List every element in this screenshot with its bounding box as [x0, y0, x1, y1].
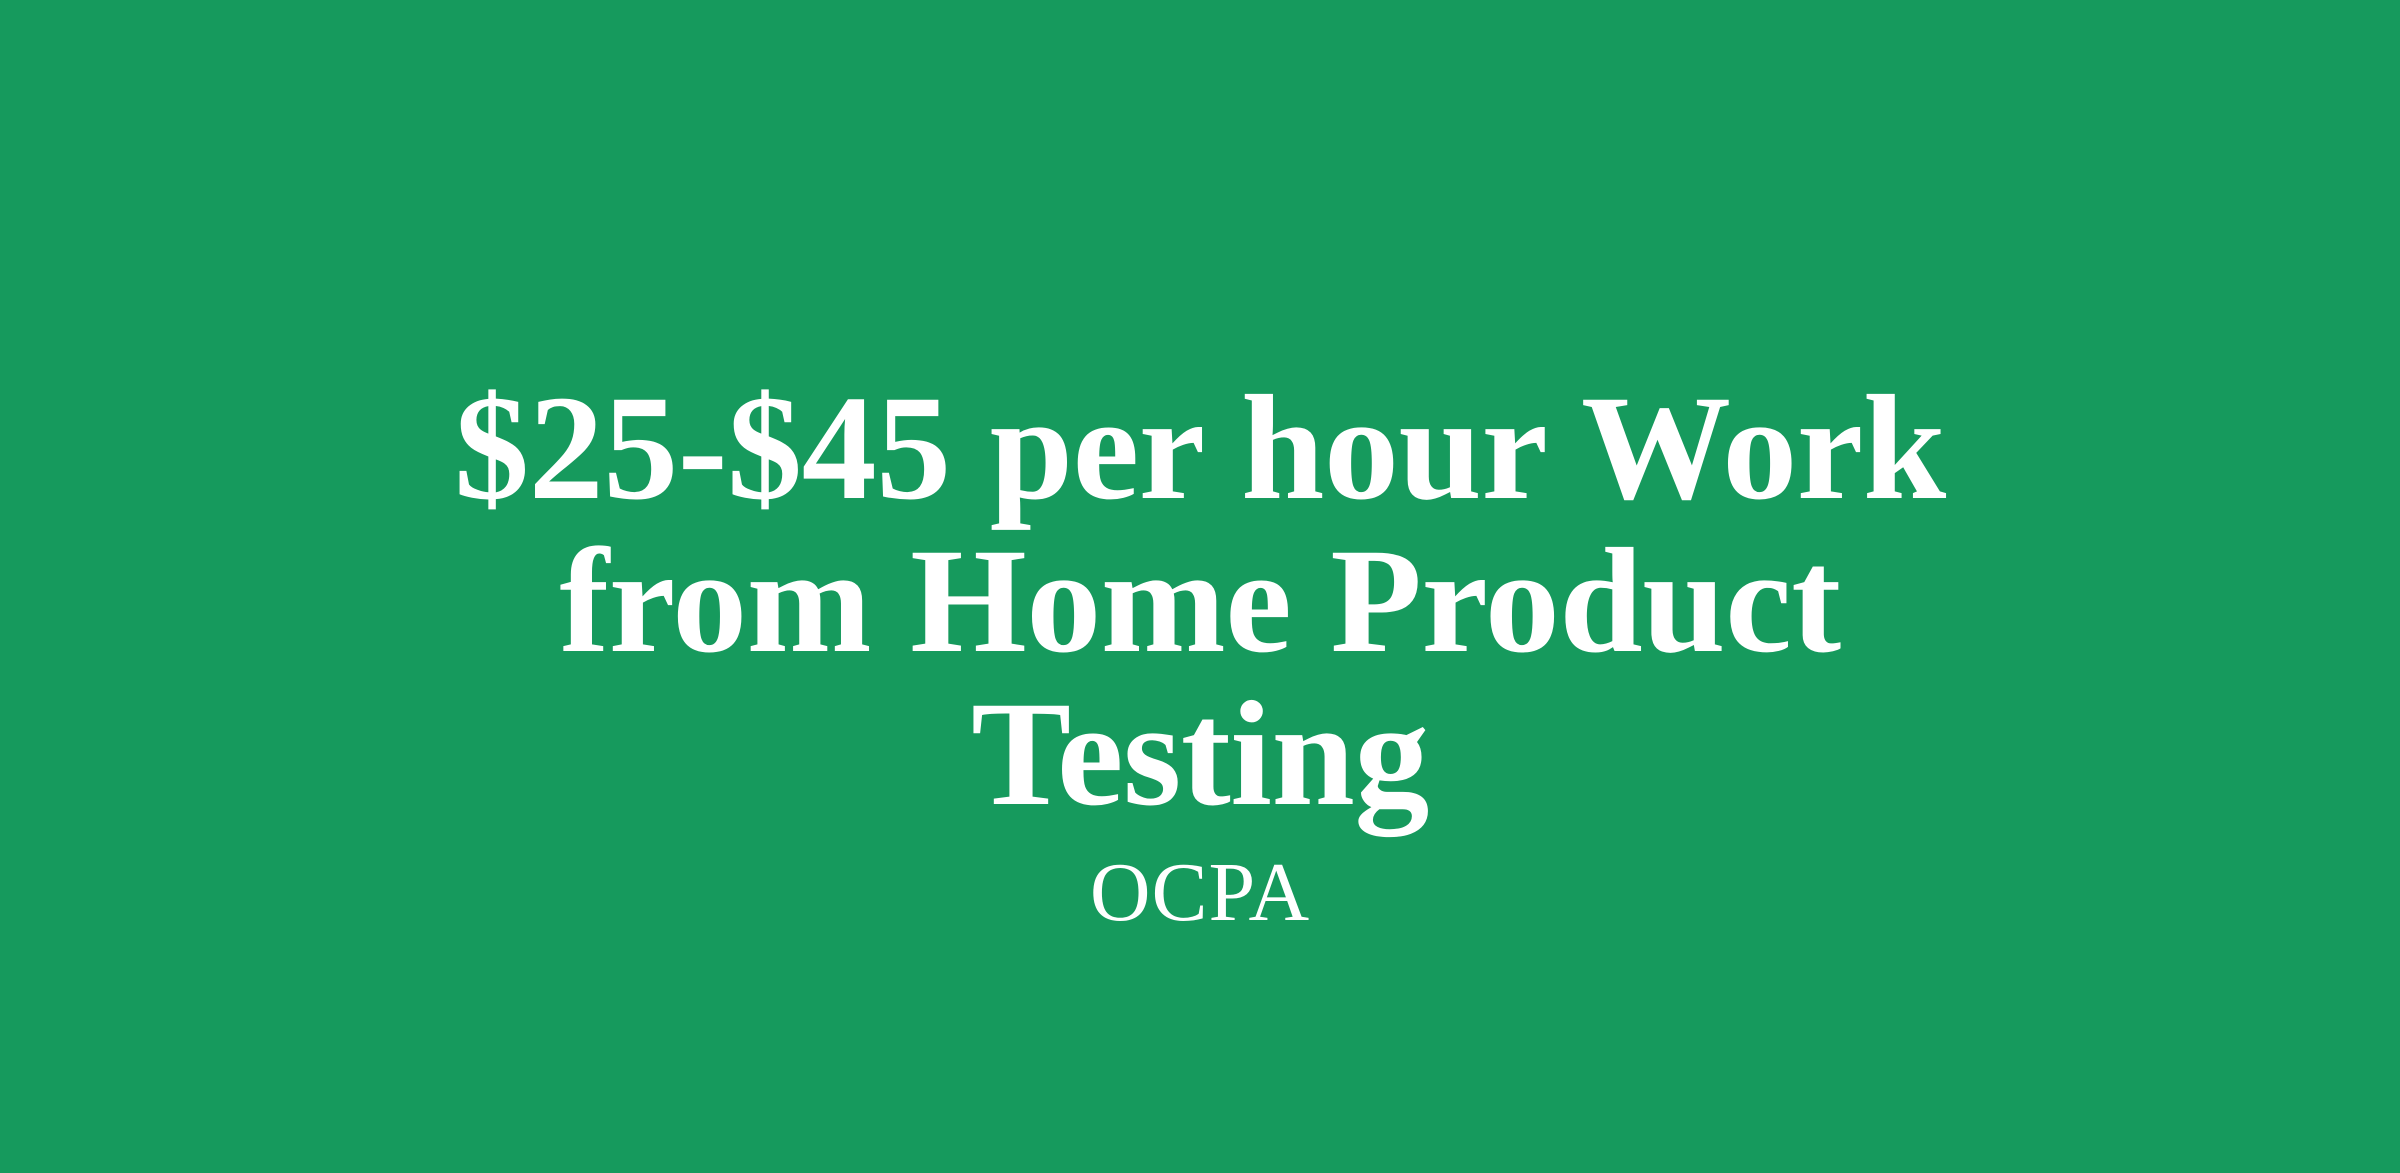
card-content: $25-$45 per hour Work from Home Product …: [310, 372, 2090, 937]
card-subtitle: OCPA: [1090, 849, 1310, 937]
preview-card: $25-$45 per hour Work from Home Product …: [0, 0, 2400, 1173]
page-title: $25-$45 per hour Work from Home Product …: [350, 372, 2050, 831]
